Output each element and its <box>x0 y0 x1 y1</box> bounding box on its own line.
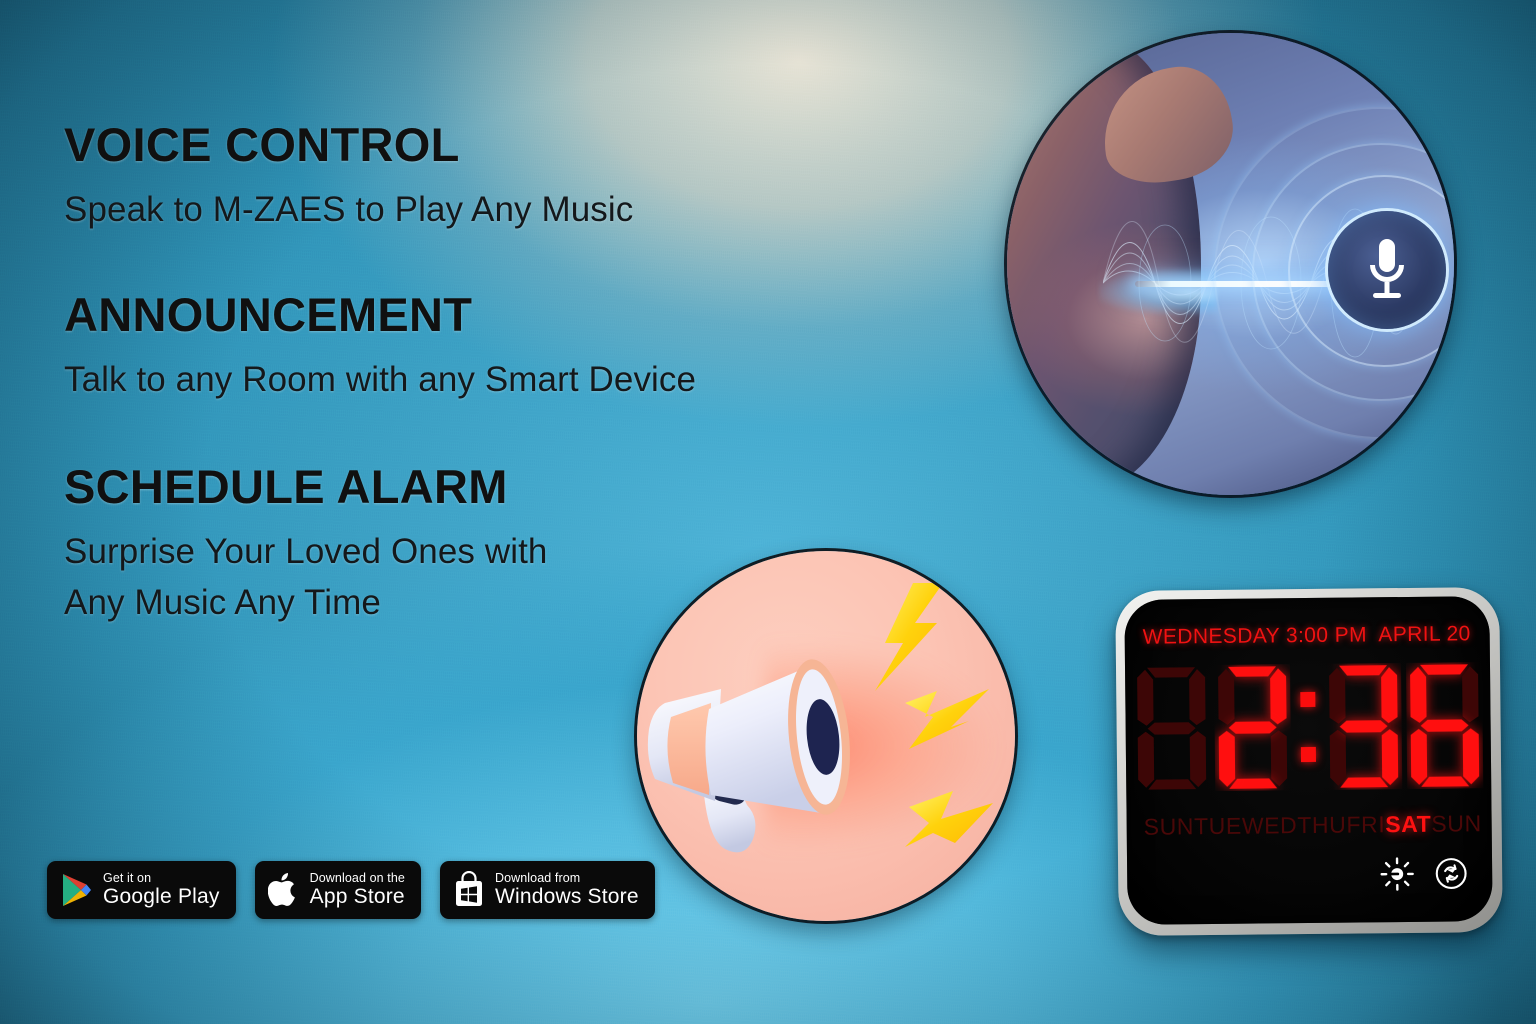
apple-icon <box>268 871 300 909</box>
feature-subtitle: Speak to M-ZAES to Play Any Music <box>64 187 884 234</box>
badge-big-text: Google Play <box>103 885 220 909</box>
feature-title: VOICE CONTROL <box>64 120 884 169</box>
voice-control-photo <box>1007 33 1454 495</box>
lightning-bolt <box>905 791 993 847</box>
digital-alarm-clock: WEDNESDAY 3:00 PM APRIL 20 SUNTUEWEDTHUF… <box>1115 587 1503 936</box>
clock-colon <box>1295 664 1321 789</box>
badge-small-text: Get it on <box>103 871 220 885</box>
clock-weekday-row: SUNTUEWEDTHUFRISATSUN <box>1127 810 1492 841</box>
badge-big-text: Windows Store <box>495 885 639 909</box>
store-badges: Get it on Google Play Download on the Ap… <box>47 861 655 919</box>
clock-weekday-time: WEDNESDAY 3:00 PM <box>1143 623 1368 649</box>
feature-title: ANNOUNCEMENT <box>64 290 884 339</box>
clock-day-tue-1: TUE <box>1194 813 1242 840</box>
clock-day-sun-6: SUN <box>1431 810 1482 838</box>
feature-subtitle: Talk to any Room with any Smart Device <box>64 357 884 404</box>
google-play-badge[interactable]: Get it on Google Play <box>47 861 236 919</box>
feature-announcement: ANNOUNCEMENT Talk to any Room with any S… <box>64 290 884 404</box>
windows-store-icon <box>453 871 485 909</box>
feature-list: VOICE CONTROL Speak to M-ZAES to Play An… <box>64 120 884 682</box>
clock-display: WEDNESDAY 3:00 PM APRIL 20 SUNTUEWEDTHUF… <box>1124 596 1492 925</box>
seven-segment-digit <box>1133 665 1210 791</box>
promo-poster: VOICE CONTROL Speak to M-ZAES to Play An… <box>0 0 1536 1024</box>
seven-segment-digit <box>1214 664 1291 790</box>
microphone-icon <box>1328 211 1446 329</box>
sync-icon[interactable] <box>1434 856 1468 890</box>
clock-header: WEDNESDAY 3:00 PM APRIL 20 <box>1125 622 1490 650</box>
seven-segment-digit <box>1325 663 1402 789</box>
clock-date: APRIL 20 <box>1378 622 1471 647</box>
clock-day-sun-0: SUN <box>1144 813 1195 841</box>
badge-small-text: Download from <box>495 871 639 885</box>
feature-title: SCHEDULE ALARM <box>64 462 884 511</box>
lightning-bolt <box>905 689 989 749</box>
seven-segment-digit <box>1406 662 1483 788</box>
badge-big-text: App Store <box>310 885 405 909</box>
clock-day-fri-4: FRI <box>1346 811 1385 838</box>
feature-subtitle-line2: Any Music Any Time <box>64 580 884 627</box>
clock-day-thu-3: THU <box>1297 812 1346 840</box>
clock-control-buttons <box>1380 856 1468 891</box>
feature-voice-control: VOICE CONTROL Speak to M-ZAES to Play An… <box>64 120 884 234</box>
google-play-icon <box>60 872 93 908</box>
brightness-icon[interactable] <box>1380 857 1414 891</box>
app-store-badge[interactable]: Download on the App Store <box>255 861 421 919</box>
feature-subtitle-line1: Surprise Your Loved Ones with <box>64 529 884 576</box>
badge-small-text: Download on the <box>310 871 405 885</box>
feature-schedule-alarm: SCHEDULE ALARM Surprise Your Loved Ones … <box>64 462 884 626</box>
clock-day-sat-5: SAT <box>1385 811 1431 838</box>
windows-store-badge[interactable]: Download from Windows Store <box>440 861 655 919</box>
clock-time-digits <box>1125 662 1491 791</box>
lightning-bolt <box>875 583 943 691</box>
clock-day-wed-2: WED <box>1242 812 1298 840</box>
